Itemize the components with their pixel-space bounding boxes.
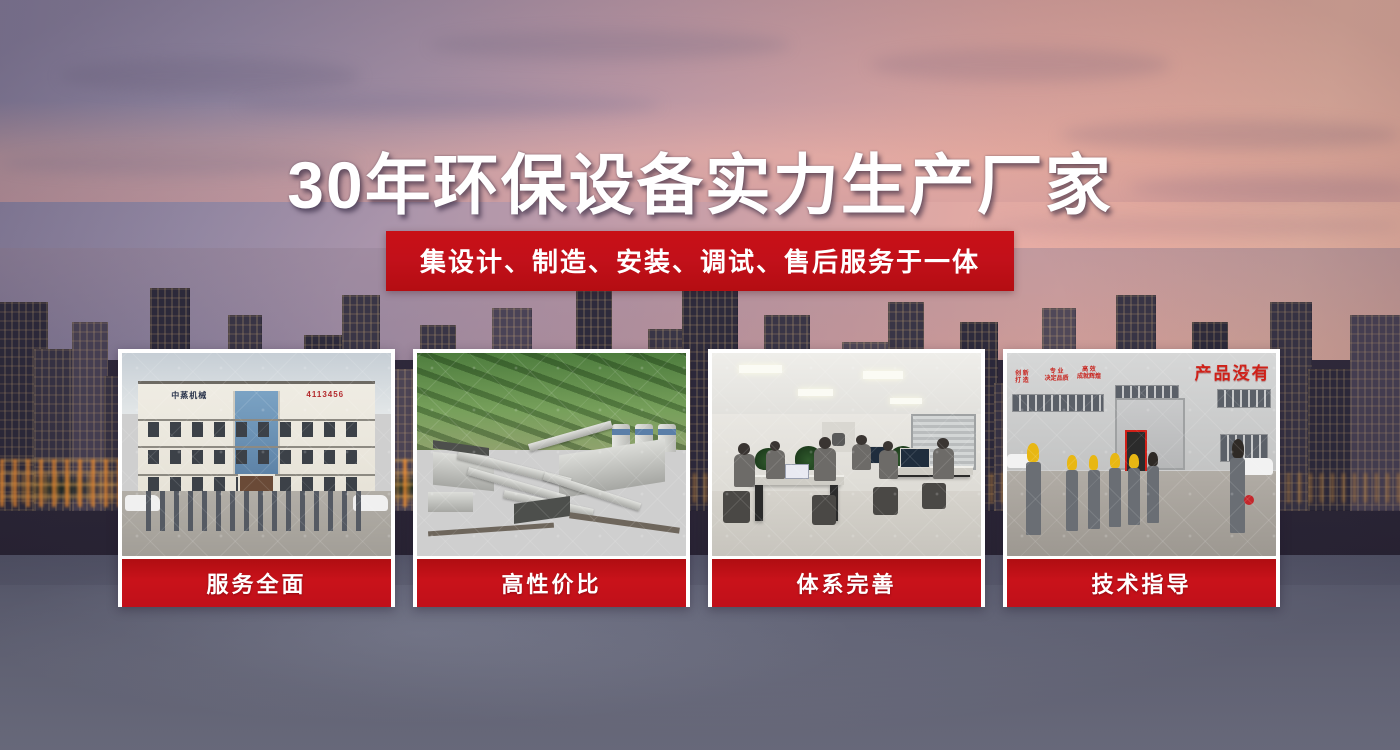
subtitle-row: 集设计、制造、安装、调试、售后服务于一体 (0, 231, 1400, 291)
banner-content: 30年环保设备实力生产厂家 集设计、制造、安装、调试、售后服务于一体 中蒸机械 … (0, 0, 1400, 750)
staff-row (146, 491, 367, 532)
building-sign-text: 中蒸机械 (171, 390, 207, 401)
factory-workers-training-photo: 产品没有 创 新打 造 专 业决定品质 高 效成就辉煌 (1007, 353, 1276, 556)
promo-banner: 30年环保设备实力生产厂家 集设计、制造、安装、调试、售后服务于一体 中蒸机械 … (0, 0, 1400, 750)
banner-subtitle-badge: 集设计、制造、安装、调试、售后服务于一体 (386, 231, 1014, 291)
feature-card-caption: 体系完善 (712, 559, 981, 607)
aerial-production-plant-photo (417, 353, 686, 556)
banner-headline: 30年环保设备实力生产厂家 (0, 132, 1400, 228)
feature-card-caption: 服务全面 (122, 559, 391, 607)
feature-card-caption: 技术指导 (1007, 559, 1276, 607)
feature-card[interactable]: 高性价比 (413, 349, 690, 607)
company-office-building-photo: 中蒸机械 4113456 (122, 353, 391, 556)
factory-wall-banner-text: 产品没有 (1195, 359, 1271, 384)
office-interior-photo (712, 353, 981, 556)
feature-card[interactable]: 中蒸机械 4113456 (118, 349, 395, 607)
feature-card[interactable]: 产品没有 创 新打 造 专 业决定品质 高 效成就辉煌 (1003, 349, 1280, 607)
feature-card-list: 中蒸机械 4113456 (118, 349, 1280, 607)
building-phone-text: 4113456 (306, 390, 344, 399)
feature-card-caption: 高性价比 (417, 559, 686, 607)
feature-card[interactable]: 体系完善 (708, 349, 985, 607)
